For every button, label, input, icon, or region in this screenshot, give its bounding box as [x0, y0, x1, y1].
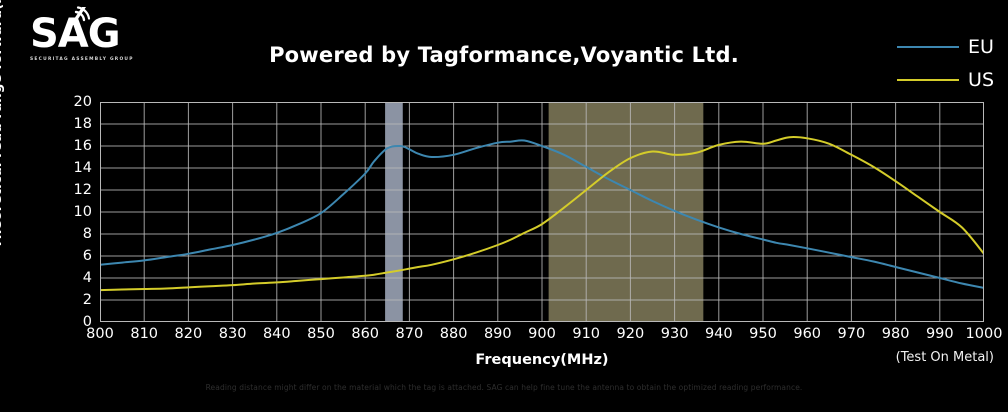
y-tick-label-20: 20 — [62, 94, 92, 110]
y-tick-label-12: 12 — [62, 182, 92, 198]
legend-swatch-eu — [897, 46, 959, 48]
plot-area — [100, 102, 984, 322]
test-condition-note: (Test On Metal) — [896, 350, 994, 365]
y-tick-label-18: 18 — [62, 116, 92, 132]
y-tick-label-2: 2 — [62, 292, 92, 308]
x-tick-label-860: 860 — [351, 326, 379, 342]
x-tick-label-890: 890 — [484, 326, 512, 342]
x-tick-label-880: 880 — [440, 326, 468, 342]
chart-legend: EU US — [897, 36, 994, 91]
x-tick-label-930: 930 — [661, 326, 689, 342]
signal-wave-icon — [68, 6, 94, 28]
x-tick-label-870: 870 — [396, 326, 424, 342]
footer-disclaimer: Reading distance might differ on the mat… — [0, 383, 1008, 392]
y-tick-label-16: 16 — [62, 138, 92, 154]
legend-label-us: US — [968, 69, 994, 91]
legend-label-eu: EU — [968, 36, 994, 58]
legend-swatch-us — [897, 79, 959, 81]
y-tick-label-4: 4 — [62, 270, 92, 286]
y-tick-label-10: 10 — [62, 204, 92, 220]
x-tick-label-920: 920 — [617, 326, 645, 342]
page-title: Powered by Tagformance,Voyantic Ltd. — [0, 43, 1008, 67]
x-tick-label-980: 980 — [882, 326, 910, 342]
x-tick-label-950: 950 — [749, 326, 777, 342]
x-tick-label-1000: 1000 — [966, 326, 1003, 342]
x-tick-label-940: 940 — [705, 326, 733, 342]
x-tick-label-800: 800 — [86, 326, 114, 342]
x-tick-label-900: 900 — [528, 326, 556, 342]
legend-item-eu[interactable]: EU — [897, 36, 994, 58]
x-tick-label-850: 850 — [307, 326, 335, 342]
x-axis-title: Frequency(MHz) — [100, 352, 984, 368]
legend-item-us[interactable]: US — [897, 69, 994, 91]
x-tick-label-810: 810 — [130, 326, 158, 342]
x-tick-label-910: 910 — [572, 326, 600, 342]
y-tick-label-14: 14 — [62, 160, 92, 176]
x-axis-tick-labels: 8008108208308408508608708808909009109209… — [0, 326, 1008, 346]
x-tick-label-820: 820 — [175, 326, 203, 342]
y-tick-label-6: 6 — [62, 248, 92, 264]
grid-layer — [100, 102, 984, 322]
x-tick-label-840: 840 — [263, 326, 291, 342]
x-tick-label-970: 970 — [838, 326, 866, 342]
y-tick-label-8: 8 — [62, 226, 92, 242]
x-tick-label-830: 830 — [219, 326, 247, 342]
x-tick-label-960: 960 — [793, 326, 821, 342]
line-chart-svg — [100, 102, 984, 322]
x-tick-label-990: 990 — [926, 326, 954, 342]
